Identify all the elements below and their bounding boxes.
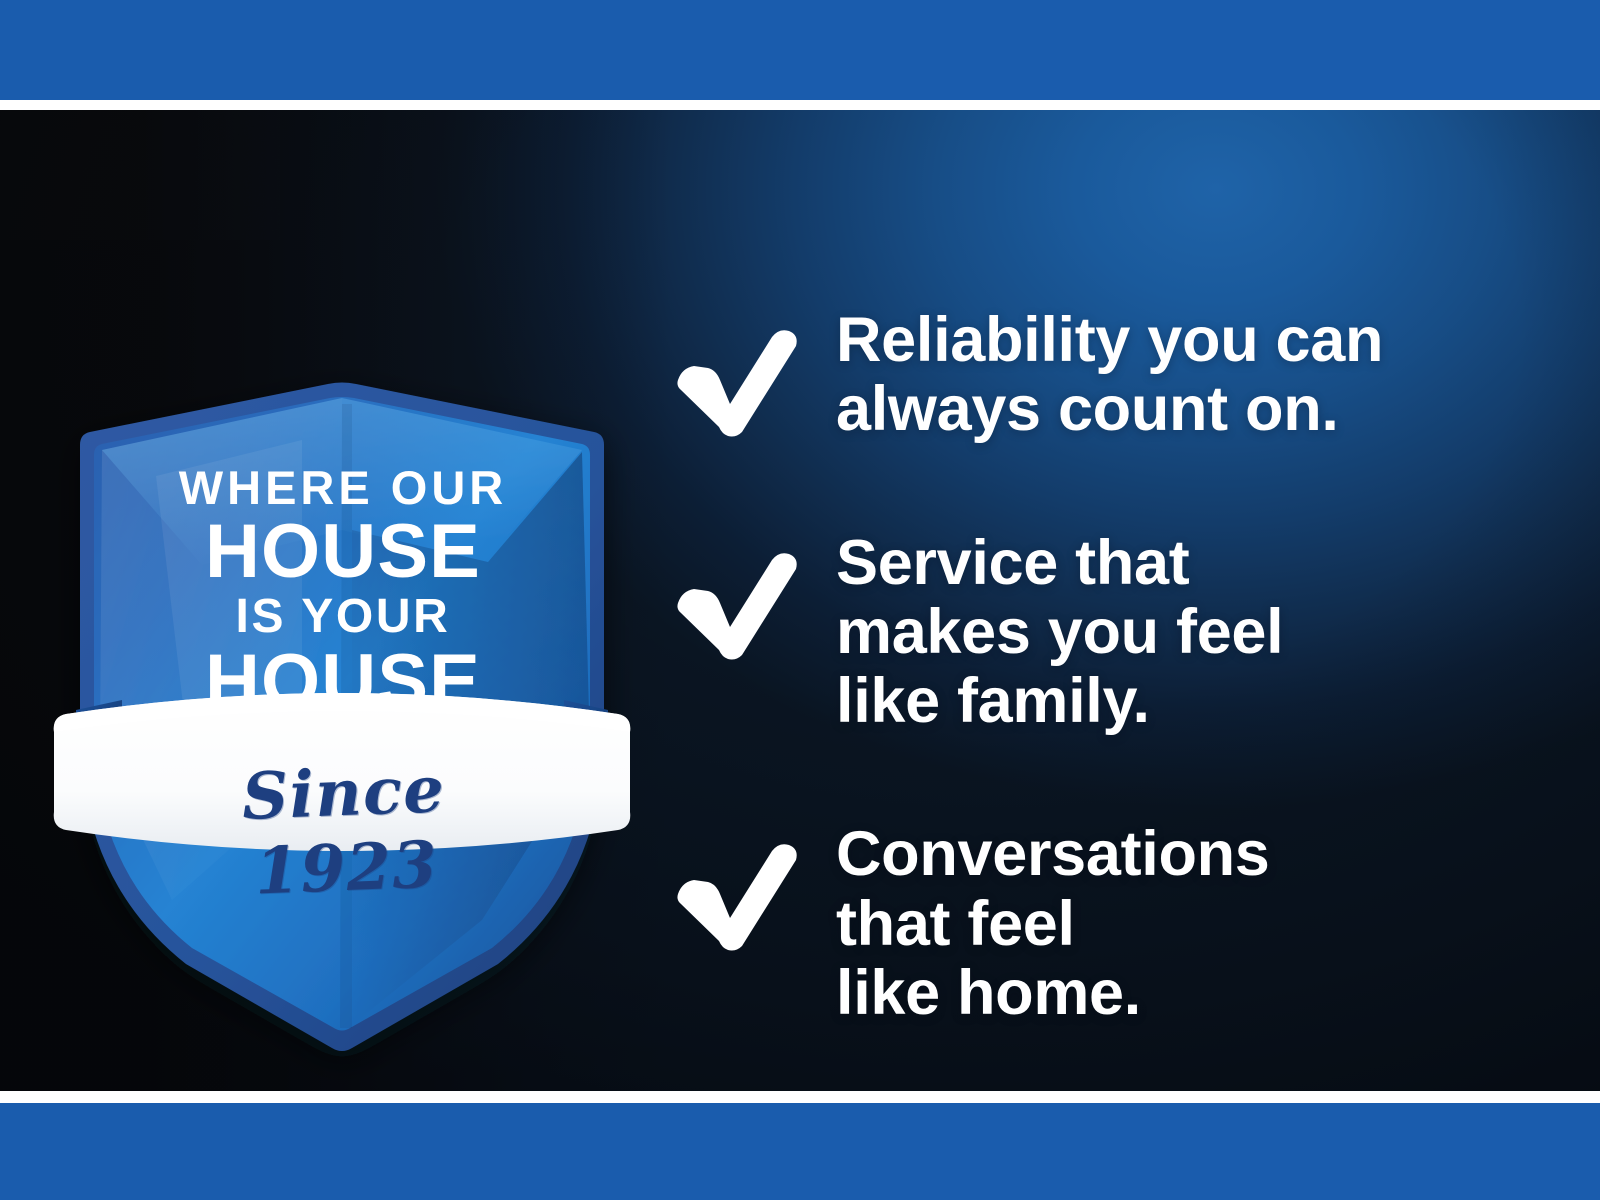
checkmark-icon — [672, 842, 800, 952]
badge-line-3: Is Your — [148, 595, 538, 639]
main-stage: Where Our House Is Your House Since 1923… — [0, 110, 1600, 1091]
shield-badge: Where Our House Is Your House Since 1923 — [52, 280, 632, 1070]
badge-line-4: House — [148, 647, 538, 717]
list-item-label: Conversations that feel like home. — [836, 820, 1270, 1028]
top-brand-bar — [0, 0, 1600, 100]
list-item-label: Reliability you can always count on. — [836, 306, 1383, 445]
list-item: Reliability you can always count on. — [672, 306, 1472, 445]
badge-line-2: House — [148, 517, 538, 587]
bottom-divider — [0, 1091, 1600, 1103]
bottom-brand-bar — [0, 1103, 1600, 1200]
list-item: Service that makes you feel like family. — [672, 529, 1472, 737]
top-divider — [0, 100, 1600, 110]
benefits-list: Reliability you can always count on. Ser… — [672, 306, 1472, 1028]
badge-headline: Where Our House Is Your House — [148, 466, 538, 717]
badge-line-1: Where Our — [148, 466, 538, 509]
badge-since-text: Since 1923 — [167, 749, 523, 912]
list-item: Conversations that feel like home. — [672, 820, 1472, 1028]
checkmark-icon — [672, 551, 800, 661]
list-item-label: Service that makes you feel like family. — [836, 529, 1283, 737]
checkmark-icon — [672, 328, 800, 438]
background-noise-texture — [0, 110, 280, 240]
promo-graphic: Where Our House Is Your House Since 1923… — [0, 0, 1600, 1200]
